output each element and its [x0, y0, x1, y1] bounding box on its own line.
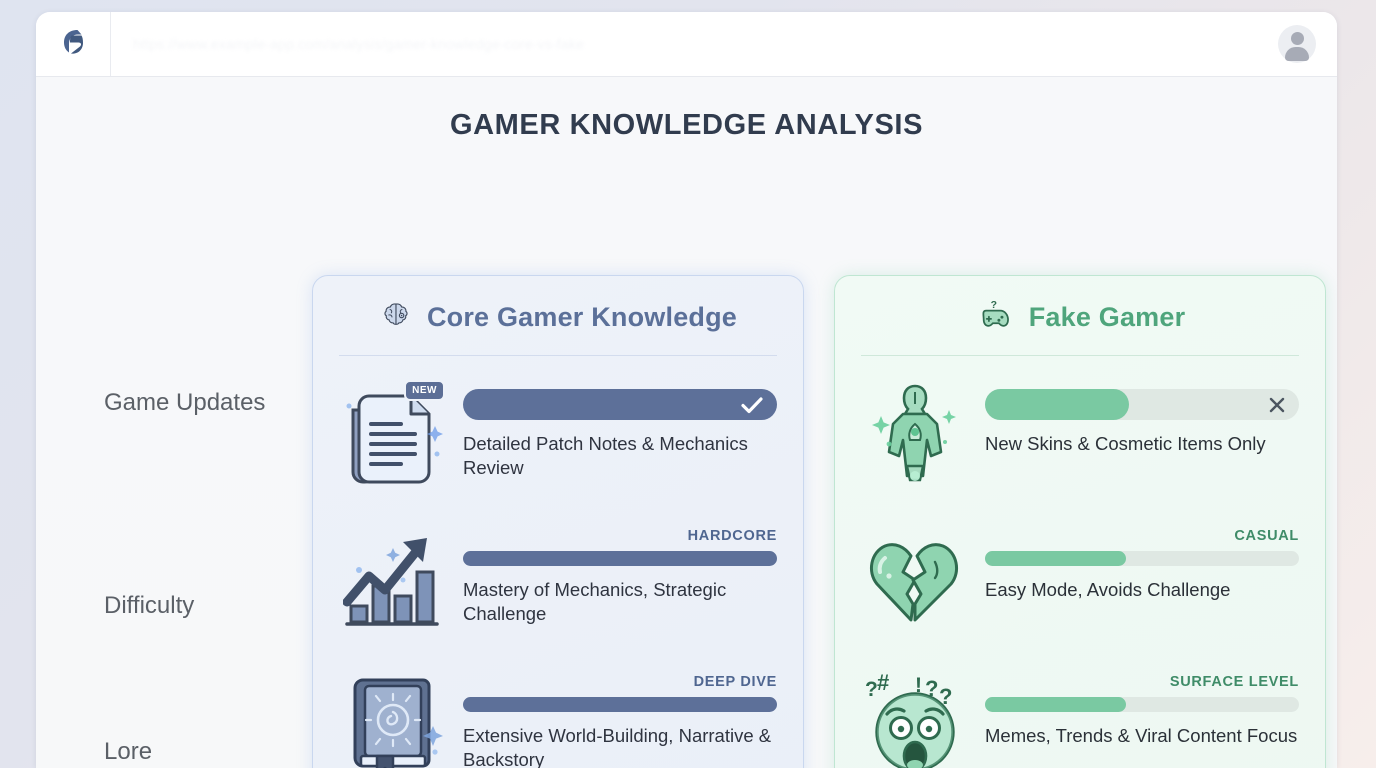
- progress-bar-core-game-updates: [463, 389, 777, 420]
- comparison-cards: Core Gamer Knowledge: [312, 275, 1326, 768]
- row-body: Detailed Patch Notes & Mechanics Review: [463, 378, 777, 479]
- progress-bar-core-lore: [463, 697, 777, 712]
- armored-skin-character-icon: [865, 380, 965, 489]
- progress-bar-fake-game-updates: [985, 389, 1299, 420]
- row-label-game-updates: Game Updates: [104, 387, 304, 533]
- avatar-body: [1285, 47, 1309, 61]
- rank-label-deep-dive: DEEP DIVE: [463, 674, 777, 690]
- svg-text:!: !: [915, 674, 922, 697]
- confused-face-icon: ? # ! ? ?: [863, 672, 967, 768]
- avatar-head: [1291, 32, 1304, 45]
- row-icon-cell: [861, 524, 969, 636]
- progress-bar-fill: [985, 551, 1126, 566]
- row-icon-cell: [339, 524, 447, 636]
- check-icon: [741, 396, 763, 414]
- row-description: Easy Mode, Avoids Challenge: [985, 578, 1299, 602]
- address-bar[interactable]: https://www.example-app.com/analysis/gam…: [111, 12, 1257, 76]
- page-title: GAMER KNOWLEDGE ANALYSIS: [36, 109, 1337, 142]
- row-description: New Skins & Cosmetic Items Only: [985, 432, 1299, 456]
- row-description: Detailed Patch Notes & Mechanics Review: [463, 432, 777, 479]
- user-avatar-icon: [1278, 25, 1316, 63]
- row-description: Memes, Trends & Viral Content Focus: [985, 724, 1299, 748]
- new-badge: NEW: [404, 380, 445, 401]
- progress-bar-fill: [985, 697, 1126, 712]
- card-core-gamer-knowledge[interactable]: Core Gamer Knowledge: [312, 275, 804, 768]
- row-core-lore[interactable]: DEEP DIVE Extensive World-Building, Narr…: [339, 658, 777, 768]
- progress-bar-core-difficulty: [463, 551, 777, 566]
- card-header-fake: ? Fake Gamer: [861, 298, 1299, 355]
- row-body: SURFACE LEVEL Memes, Trends & Viral Cont…: [985, 670, 1299, 748]
- rank-label-hardcore: HARDCORE: [463, 528, 777, 544]
- svg-text:?: ?: [990, 300, 996, 311]
- card-fake-gamer[interactable]: ? Fake Gamer: [834, 275, 1326, 768]
- card-rows-core: NEW Det: [339, 356, 777, 768]
- svg-text:?: ?: [865, 678, 878, 701]
- row-fake-game-updates[interactable]: New Skins & Cosmetic Items Only: [861, 366, 1299, 512]
- svg-text:?: ?: [939, 684, 952, 709]
- row-fake-lore[interactable]: ? # ! ? ? SURFACE LEVEL: [861, 658, 1299, 768]
- browser-top-bar: https://www.example-app.com/analysis/gam…: [36, 12, 1337, 77]
- progress-bar-fill: [985, 389, 1129, 420]
- row-description: Mastery of Mechanics, Strategic Challeng…: [463, 578, 777, 625]
- lore-book-icon: [343, 672, 443, 768]
- brand-logo-button[interactable]: [36, 12, 111, 76]
- progress-bar-fake-lore: [985, 697, 1299, 712]
- card-rows-fake: New Skins & Cosmetic Items Only: [861, 356, 1299, 768]
- brand-logo-icon: [57, 26, 89, 63]
- account-avatar-button[interactable]: [1257, 12, 1337, 76]
- row-core-difficulty[interactable]: HARDCORE Mastery of Mechanics, Strategic…: [339, 512, 777, 658]
- brain-icon: [379, 298, 413, 337]
- row-label-column: Game Updates Difficulty Lore: [104, 387, 304, 768]
- row-fake-difficulty[interactable]: CASUAL Easy Mode, Avoids Challenge: [861, 512, 1299, 658]
- patch-notes-document-icon: [343, 473, 443, 490]
- broken-heart-icon: [863, 528, 967, 633]
- address-bar-text: https://www.example-app.com/analysis/gam…: [133, 36, 584, 52]
- rank-label-surface-level: SURFACE LEVEL: [985, 674, 1299, 690]
- row-label-lore: Lore: [104, 679, 304, 768]
- row-core-game-updates[interactable]: NEW Det: [339, 366, 777, 512]
- svg-text:#: #: [877, 672, 889, 695]
- row-body: HARDCORE Mastery of Mechanics, Strategic…: [463, 524, 777, 625]
- row-icon-cell: [861, 378, 969, 490]
- growth-chart-icon: [343, 528, 443, 633]
- row-icon-cell: [339, 670, 447, 768]
- rank-label-casual: CASUAL: [985, 528, 1299, 544]
- gamepad-question-icon: ?: [975, 298, 1015, 337]
- row-description: Extensive World-Building, Narrative & Ba…: [463, 724, 777, 768]
- app-window: https://www.example-app.com/analysis/gam…: [36, 12, 1337, 768]
- card-header-core: Core Gamer Knowledge: [339, 298, 777, 355]
- svg-text:?: ?: [925, 676, 938, 701]
- row-body: New Skins & Cosmetic Items Only: [985, 378, 1299, 456]
- card-title-fake: Fake Gamer: [1029, 302, 1186, 333]
- close-icon: [1267, 395, 1287, 415]
- row-body: CASUAL Easy Mode, Avoids Challenge: [985, 524, 1299, 602]
- row-label-difficulty: Difficulty: [104, 533, 304, 679]
- row-icon-cell: ? # ! ? ?: [861, 670, 969, 768]
- row-icon-cell: NEW: [339, 378, 447, 490]
- row-body: DEEP DIVE Extensive World-Building, Narr…: [463, 670, 777, 768]
- page-content: GAMER KNOWLEDGE ANALYSIS Game Updates Di…: [36, 109, 1337, 768]
- card-title-core: Core Gamer Knowledge: [427, 302, 737, 333]
- progress-bar-fake-difficulty: [985, 551, 1299, 566]
